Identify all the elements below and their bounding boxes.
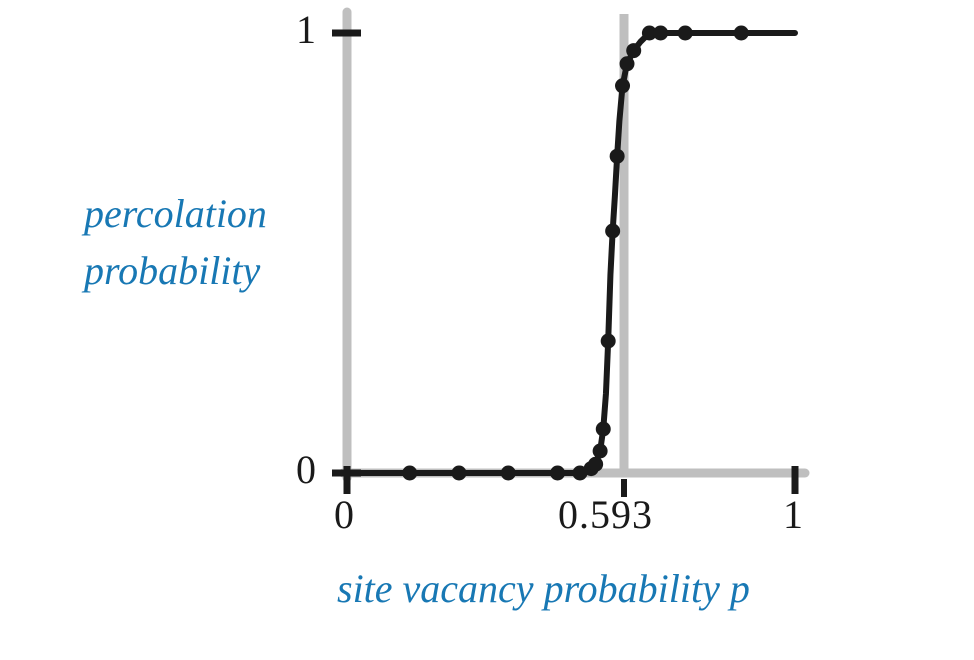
data-point-marker — [550, 466, 565, 481]
axes-group — [343, 12, 805, 478]
data-point-markers — [402, 26, 749, 481]
chart-figure: percolation probability site vacancy pro… — [0, 0, 974, 660]
data-point-marker — [678, 26, 693, 41]
x-axis-label: site vacancy probability p — [337, 565, 750, 613]
y-axis-label-line-1: percolation — [84, 186, 314, 243]
data-point-marker — [626, 43, 641, 58]
y-axis-label-line-2: probability — [84, 243, 314, 300]
percolation-curve — [347, 33, 795, 473]
data-point-marker — [596, 422, 611, 437]
data-point-marker — [734, 26, 749, 41]
plot-canvas — [0, 0, 974, 660]
tick-marks-group — [332, 33, 795, 497]
data-point-marker — [593, 444, 608, 459]
x-tick-label-threshold: 0.593 — [558, 495, 653, 535]
y-tick-label-0: 0 — [296, 450, 316, 490]
data-point-marker — [501, 466, 516, 481]
data-point-marker — [601, 334, 616, 349]
data-point-marker — [653, 26, 668, 41]
data-point-marker — [588, 457, 603, 472]
data-point-marker — [620, 56, 635, 71]
y-tick-label-1: 1 — [296, 10, 316, 50]
data-point-marker — [605, 224, 620, 239]
data-point-marker — [452, 466, 467, 481]
data-point-marker — [615, 78, 630, 93]
x-tick-label-1: 1 — [783, 495, 803, 535]
data-series-group — [347, 26, 795, 481]
data-point-marker — [402, 466, 417, 481]
x-tick-label-0: 0 — [334, 495, 354, 535]
data-point-marker — [610, 149, 625, 164]
y-axis-label: percolation probability — [84, 186, 314, 300]
